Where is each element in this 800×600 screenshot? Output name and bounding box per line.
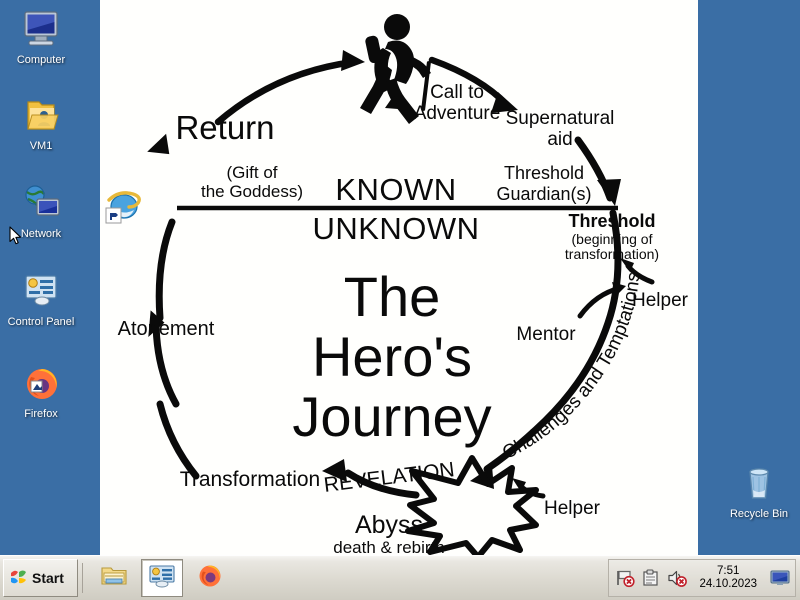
windows-flag-icon xyxy=(8,567,28,590)
desktop-icon-label: Control Panel xyxy=(2,316,80,329)
computer-icon xyxy=(2,6,80,52)
label-threshold-sub1: (beginning of xyxy=(572,231,653,247)
desktop-icon-recycle-bin[interactable]: Recycle Bin xyxy=(720,460,798,521)
label-return: Return xyxy=(175,109,274,146)
system-tray[interactable]: 7:51 24.10.2023 xyxy=(608,559,796,597)
label-supernatural-line2: aid xyxy=(547,129,572,150)
desktop-icon-internet-explorer[interactable] xyxy=(104,186,144,231)
taskbar-item-firefox[interactable] xyxy=(189,559,231,597)
folder-window-icon xyxy=(100,564,128,593)
clock-time: 7:51 xyxy=(699,565,757,578)
heros-journey-diagram: KNOWN UNKNOWN The Hero's Journey xyxy=(100,0,698,556)
label-call-line2: Adventure xyxy=(414,103,501,124)
label-supernatural-line1: Supernatural xyxy=(506,108,615,129)
network-disconnected-icon[interactable] xyxy=(615,568,635,588)
control-panel-icon xyxy=(2,268,80,314)
internet-explorer-icon xyxy=(104,213,144,230)
label-known: KNOWN xyxy=(335,172,456,207)
label-call-line1: Call to xyxy=(430,82,484,103)
folder-user-icon xyxy=(2,92,80,138)
desktop-icon-label: Firefox xyxy=(2,408,80,421)
taskbar-separator xyxy=(82,563,83,593)
mouse-pointer-icon xyxy=(9,226,23,251)
title-line-2: Hero's xyxy=(312,325,472,388)
label-mentor: Mentor xyxy=(516,324,576,345)
start-button-label: Start xyxy=(32,570,64,586)
clock-date: 24.10.2023 xyxy=(699,578,757,591)
label-atonement: Atonement xyxy=(118,318,215,340)
taskbar-item-file-manager[interactable] xyxy=(93,559,135,597)
firefox-icon xyxy=(2,360,80,406)
desktop-icon-label: Recycle Bin xyxy=(720,508,798,521)
taskbar-item-control-panel[interactable] xyxy=(141,559,183,597)
taskbar-clock[interactable]: 7:51 24.10.2023 xyxy=(693,565,763,591)
title-line-3: Journey xyxy=(292,385,491,448)
network-icon xyxy=(2,180,80,226)
label-abyss-sub: death & rebirth xyxy=(333,538,445,556)
heros-journey-image[interactable]: KNOWN UNKNOWN The Hero's Journey xyxy=(100,0,698,556)
label-helper-bottom: Helper xyxy=(544,498,601,519)
label-abyss: Abyss xyxy=(355,511,423,539)
desktop-icon-control-panel[interactable]: Control Panel xyxy=(2,268,80,329)
clipboard-icon[interactable] xyxy=(641,568,661,588)
desktop-icon-label: VM1 xyxy=(2,140,80,153)
desktop-icon-label: Computer xyxy=(2,54,80,67)
volume-muted-icon[interactable] xyxy=(667,568,687,588)
start-button[interactable]: Start xyxy=(3,559,78,597)
label-gift-line1: (Gift of xyxy=(226,163,277,182)
label-threshold-sub2: transformation) xyxy=(565,246,659,262)
label-unknown: UNKNOWN xyxy=(312,211,479,246)
taskbar[interactable]: Start xyxy=(0,555,800,600)
label-guardian-line2: Guardian(s) xyxy=(496,184,591,204)
desktop-icon-vm1[interactable]: VM1 xyxy=(2,92,80,153)
label-guardian-line1: Threshold xyxy=(504,163,584,183)
desktop-icon-computer[interactable]: Computer xyxy=(2,6,80,67)
label-gift-line2: the Goddess) xyxy=(201,182,303,201)
firefox-icon xyxy=(197,563,223,594)
control-panel-icon xyxy=(148,564,176,593)
label-threshold: Threshold xyxy=(568,211,655,231)
monitor-icon[interactable] xyxy=(769,568,789,588)
recycle-bin-icon xyxy=(720,460,798,506)
desktop-icon-firefox[interactable]: Firefox xyxy=(2,360,80,421)
title-line-1: The xyxy=(344,265,441,328)
label-transformation: Transformation xyxy=(180,468,320,491)
